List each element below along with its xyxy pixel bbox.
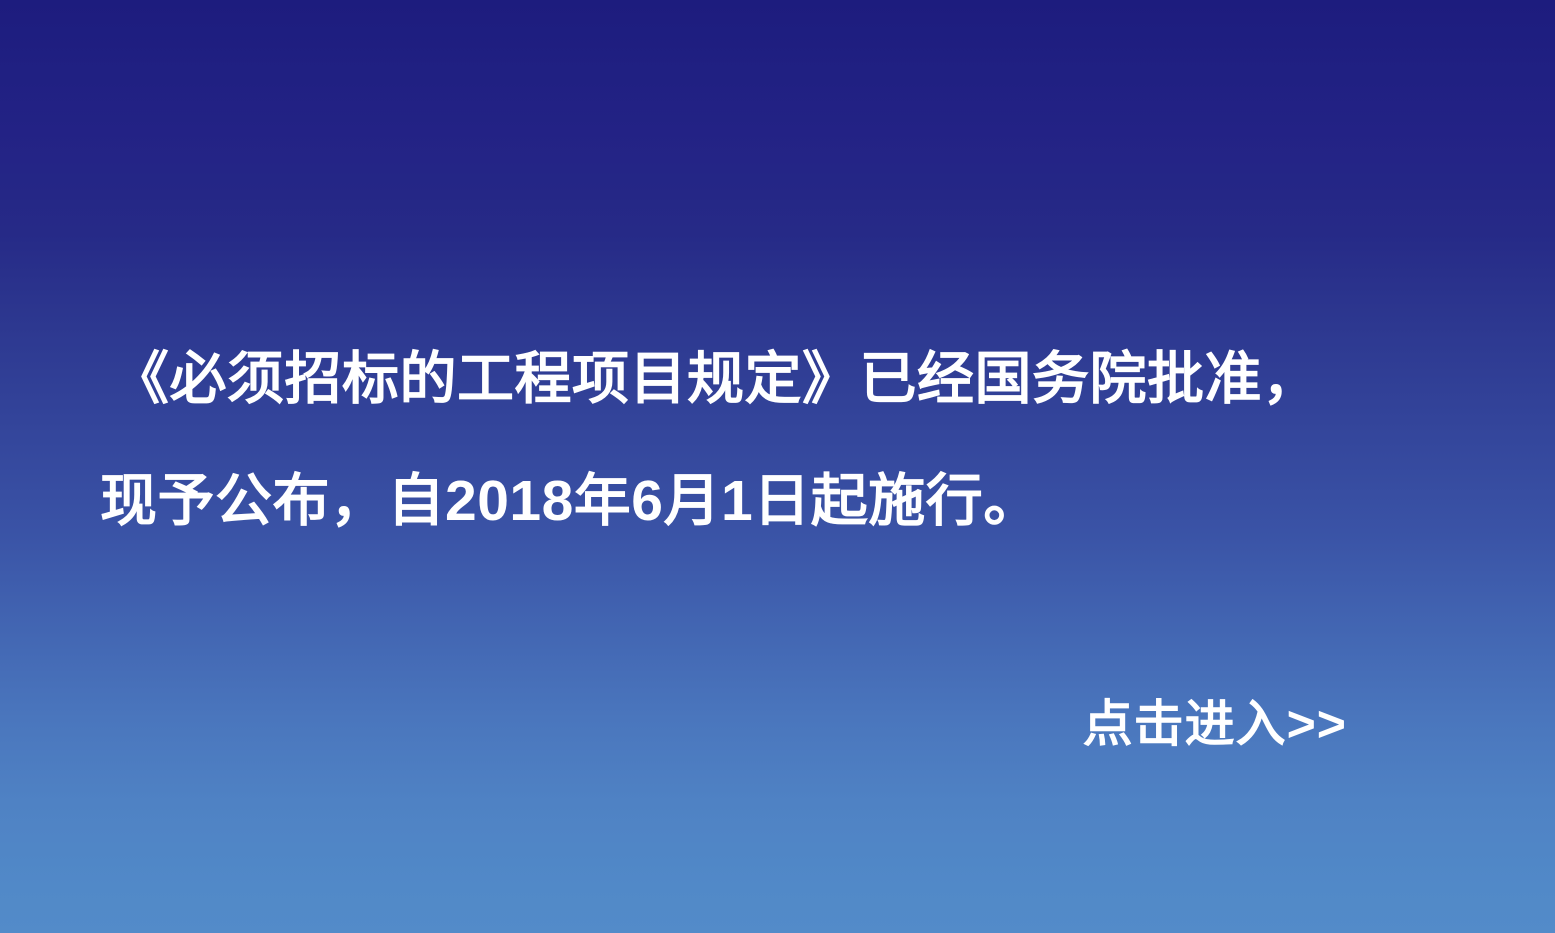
enter-link[interactable]: 点击进入>> xyxy=(1083,686,1347,762)
cta-container: 点击进入>> xyxy=(0,686,1555,762)
announcement-banner: 《必须招标的工程项目规定》已经国务院批准， 现予公布，自2018年6月1日起施行… xyxy=(0,0,1555,933)
statement-line-2: 现予公布，自2018年6月1日起施行。 xyxy=(0,440,1555,562)
announcement-statement: 《必须招标的工程项目规定》已经国务院批准， 现予公布，自2018年6月1日起施行… xyxy=(0,318,1555,562)
statement-line-1: 《必须招标的工程项目规定》已经国务院批准， xyxy=(0,318,1555,440)
